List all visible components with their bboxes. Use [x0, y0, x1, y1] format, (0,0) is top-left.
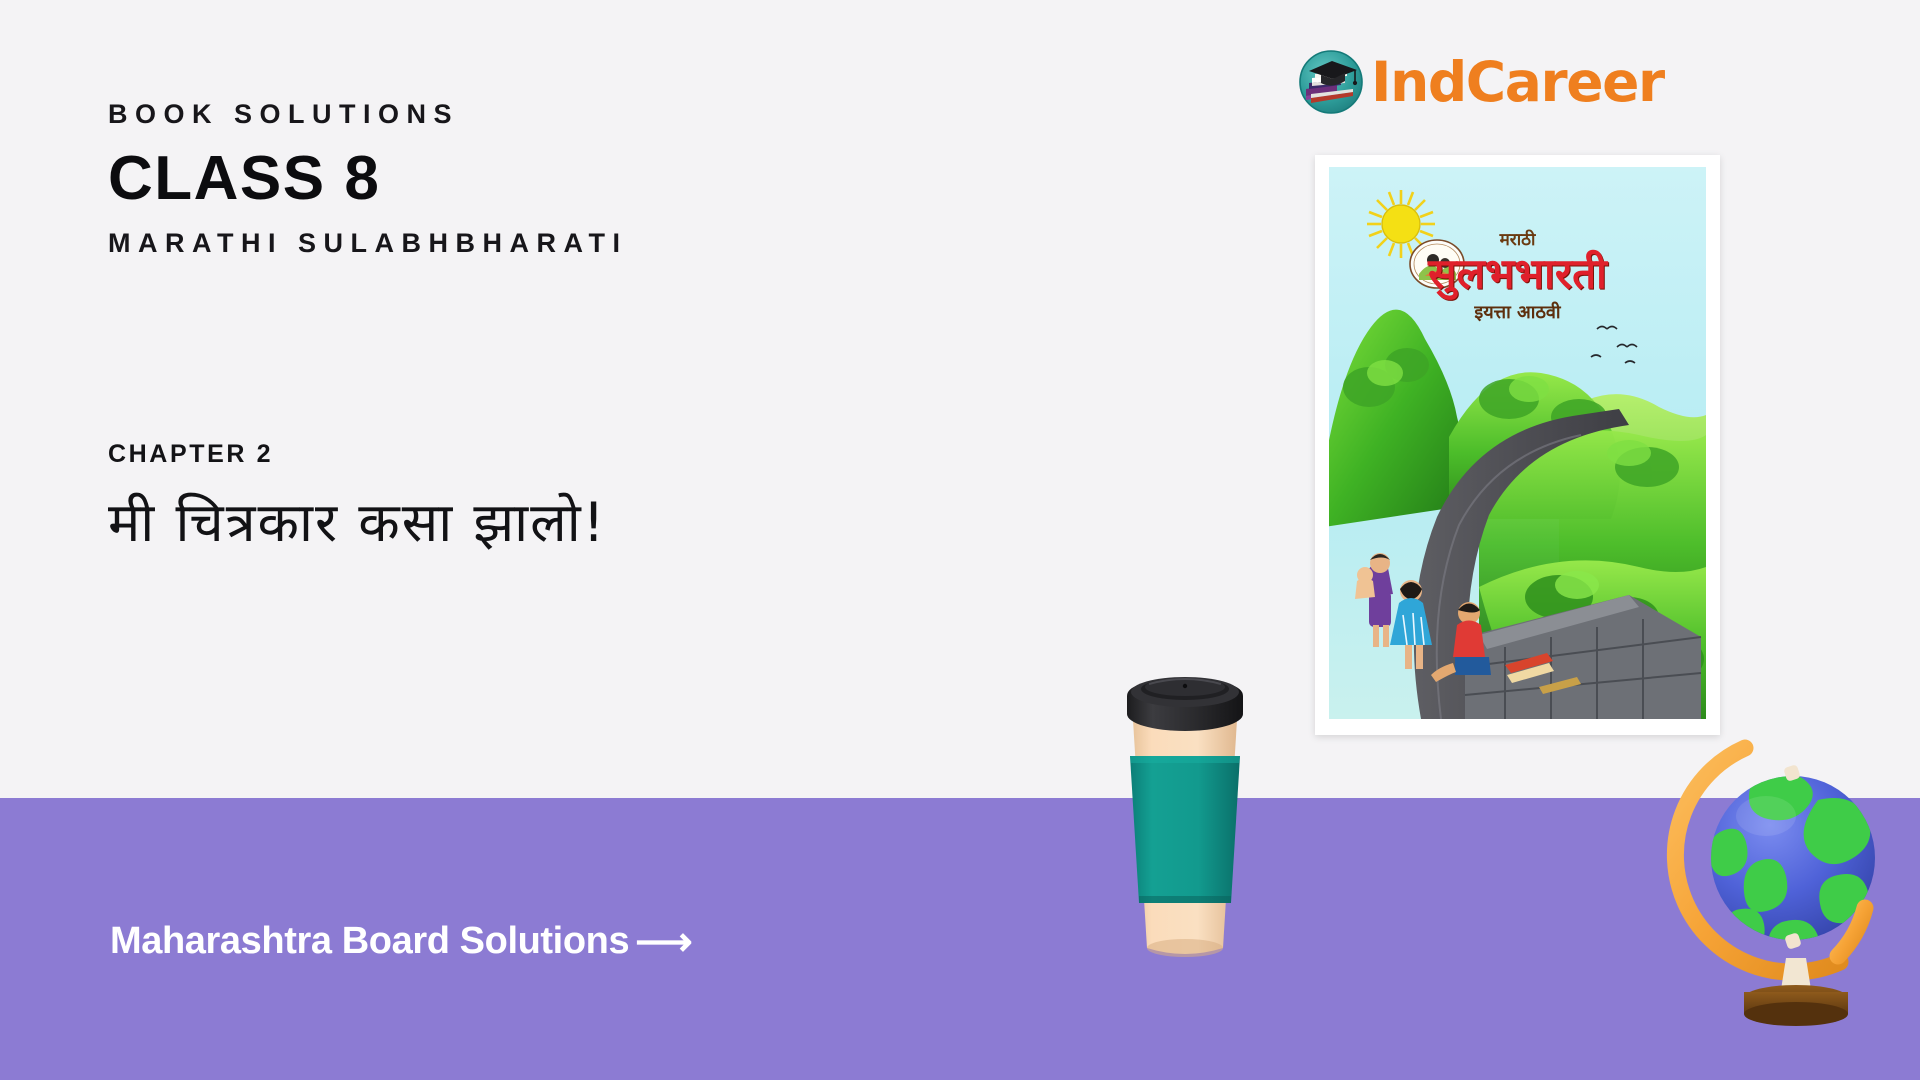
book-cover-image: मराठी सुलभभारती इयत्ता आठवी — [1315, 155, 1720, 735]
eyebrow-label: BOOK SOLUTIONS — [108, 100, 1008, 130]
book-cover-artwork — [1329, 167, 1706, 719]
heading-group: BOOK SOLUTIONS CLASS 8 MARATHI SULABHBHA… — [108, 100, 1008, 259]
poster-canvas: BOOK SOLUTIONS CLASS 8 MARATHI SULABHBHA… — [0, 0, 1920, 1080]
book-subject-label: MARATHI SULABHBHARATI — [108, 229, 1008, 259]
logo-wordmark: IndCareer — [1371, 55, 1664, 110]
cta-label: Maharashtra Board Solutions — [110, 920, 629, 963]
chapter-title: मी चित्रकार कसा झालो! — [108, 489, 1108, 557]
chapter-group: CHAPTER 2 मी चित्रकार कसा झालो! — [108, 440, 1108, 557]
maharashtra-board-solutions-link[interactable]: Maharashtra Board Solutions ⟶ — [110, 920, 692, 963]
chapter-number-label: CHAPTER 2 — [108, 440, 1108, 469]
arrow-right-icon: ⟶ — [635, 922, 692, 962]
coffee-cup-icon — [1115, 648, 1255, 970]
page-title: CLASS 8 — [108, 144, 1008, 213]
globe-icon — [1660, 730, 1895, 1030]
graduation-cap-books-circle-icon — [1297, 48, 1365, 116]
indcareer-logo[interactable]: IndCareer — [1297, 48, 1664, 116]
